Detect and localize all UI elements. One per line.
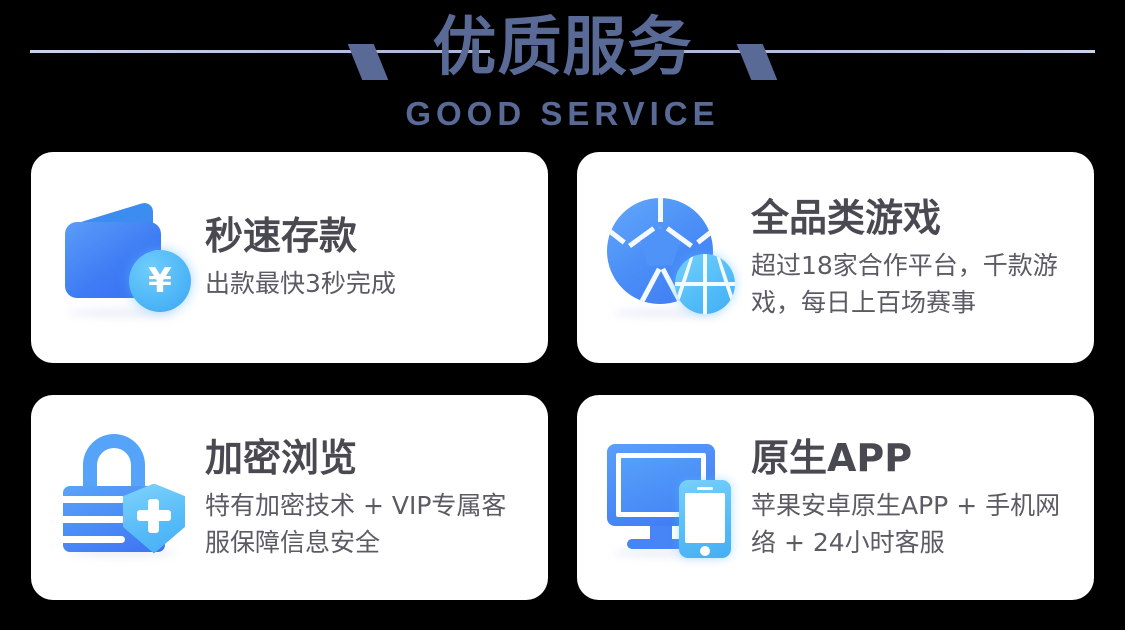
yen-coin-icon: ¥ xyxy=(129,250,191,312)
phone-screen xyxy=(685,493,725,543)
lock-slot xyxy=(63,496,125,503)
feature-card-text: 秒速存款 出款最快3秒完成 xyxy=(205,213,526,302)
soccer-seam xyxy=(637,267,661,303)
feature-card-description: 出款最快3秒完成 xyxy=(205,265,526,302)
feature-card-title: 全品类游戏 xyxy=(751,195,1072,241)
feature-card-deposit[interactable]: ¥ 秒速存款 出款最快3秒完成 xyxy=(31,152,548,363)
soccer-seam xyxy=(607,224,626,244)
feature-card-description: 超过18家合作平台，千款游戏，每日上百场赛事 xyxy=(751,247,1072,321)
feature-card-encryption[interactable]: 加密浏览 特有加密技术 + VIP专属客服保障信息安全 xyxy=(31,395,548,600)
feature-card-description: 苹果安卓原生APP + 手机网络 + 24小时客服 xyxy=(751,487,1072,561)
soccer-basketball-icon xyxy=(603,188,743,328)
lock-slot xyxy=(63,536,125,543)
wallet-icon: ¥ xyxy=(57,188,197,328)
lock-shield-icon xyxy=(57,428,197,568)
monitor-neck xyxy=(650,526,672,540)
phone-home-button xyxy=(700,546,710,556)
feature-card-grid: ¥ 秒速存款 出款最快3秒完成 xyxy=(31,152,1094,600)
feature-card-title: 秒速存款 xyxy=(205,213,526,259)
phone-speaker xyxy=(697,487,713,490)
feature-card-text: 原生APP 苹果安卓原生APP + 手机网络 + 24小时客服 xyxy=(751,435,1072,561)
page-header: 优质服务 GOOD SERVICE xyxy=(0,0,1125,150)
page-subtitle: GOOD SERVICE xyxy=(0,94,1125,134)
soccer-seam xyxy=(696,224,713,244)
smartphone-icon xyxy=(679,480,731,558)
feature-card-games[interactable]: 全品类游戏 超过18家合作平台，千款游戏，每日上百场赛事 xyxy=(577,152,1094,363)
soccer-seam xyxy=(658,198,663,222)
feature-card-title: 原生APP xyxy=(751,435,1072,481)
page-title: 优质服务 xyxy=(0,8,1125,88)
feature-card-description: 特有加密技术 + VIP专属客服保障信息安全 xyxy=(205,487,526,561)
feature-card-native-app[interactable]: 原生APP 苹果安卓原生APP + 手机网络 + 24小时客服 xyxy=(577,395,1094,600)
basketball-icon xyxy=(675,254,735,314)
feature-card-text: 加密浏览 特有加密技术 + VIP专属客服保障信息安全 xyxy=(205,435,526,561)
feature-card-title: 加密浏览 xyxy=(205,435,526,481)
monitor-phone-icon xyxy=(603,428,743,568)
feature-card-text: 全品类游戏 超过18家合作平台，千款游戏，每日上百场赛事 xyxy=(751,195,1072,321)
shield-plus-icon xyxy=(148,499,159,533)
lock-slot xyxy=(63,516,125,523)
